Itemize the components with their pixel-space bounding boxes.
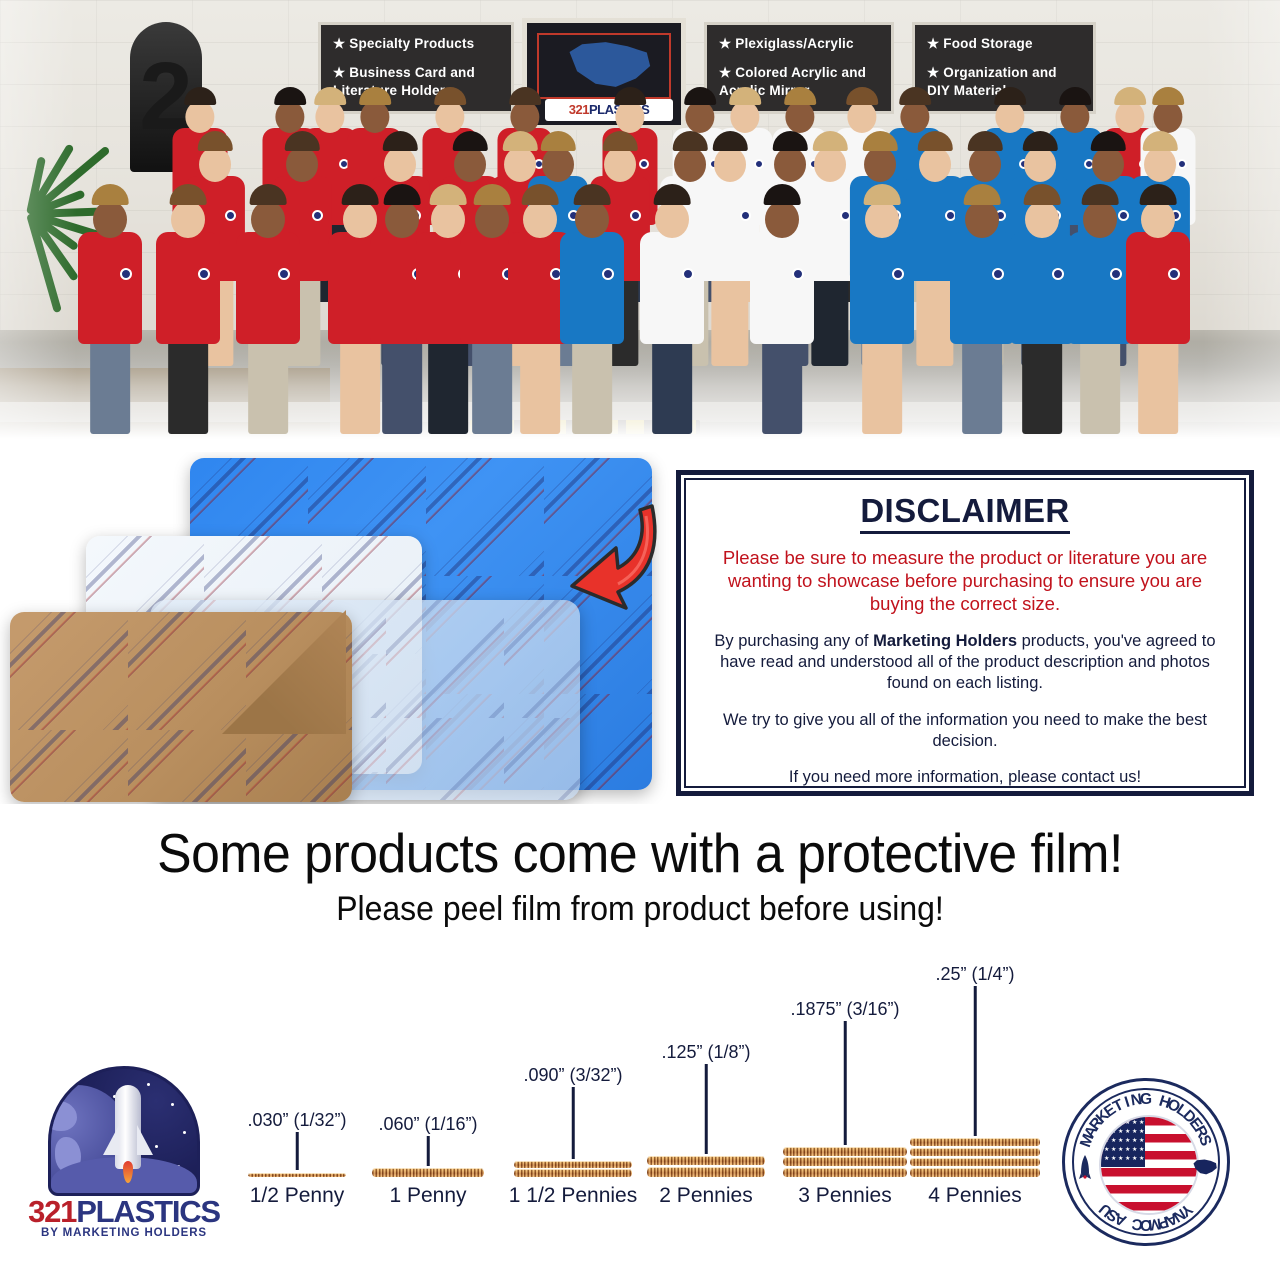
penny-measurement-label: .25” (1/4”) [935,964,1014,985]
staff-member [1068,192,1132,434]
penny-category-label: 3 Pennies [798,1184,891,1208]
staff-member [1126,192,1190,434]
disclaimer-warning-text: Please be sure to measure the product or… [704,546,1226,615]
staff-member [78,192,142,434]
penny-category-label: 1/2 Penny [250,1184,345,1208]
penny-leader-line [572,1087,575,1159]
penny-coin [248,1173,347,1177]
staff-member [850,192,914,434]
penny-stack [241,1173,353,1179]
staff-member [560,192,624,434]
headline-secondary: Please peel film from product before usi… [38,890,1241,929]
us-flag-icon: ★★★★★★★★★★★★★★★★★★★★★★★★★★★★★★ [1099,1115,1199,1215]
penny-coin [372,1168,484,1177]
penny-category-label: 4 Pennies [928,1184,1021,1208]
penny-stack [647,1156,765,1179]
penny-coin [910,1138,1040,1147]
penny-coin [647,1167,765,1177]
penny-measurement-label: .125” (1/8”) [661,1042,750,1063]
disclaimer-title: DISCLAIMER [860,492,1069,534]
penny-coin [783,1168,907,1177]
staff-member [950,192,1014,434]
staff-member [640,192,704,434]
marketing-infographic-page: 2 ★ Specialty Products ★ Business Card a… [0,0,1280,1280]
logo-dome [48,1066,200,1196]
wordmark-number: 321 [28,1194,76,1229]
penny-stack [514,1161,632,1179]
headline-block: Some products come with a protective fil… [0,824,1280,929]
321plastics-logo: 321PLASTICS BY MARKETING HOLDERS [26,1066,222,1244]
disclaimer-paragraph-2: We try to give you all of the informatio… [704,710,1226,752]
penny-category-label: 1 1/2 Pennies [509,1184,637,1208]
disclaimer-paragraph-3: If you need more information, please con… [704,767,1226,788]
penny-measurement-label: .1875” (3/16”) [790,999,899,1020]
penny-coin [647,1156,765,1166]
penny-category-label: 1 Penny [389,1184,466,1208]
staff-member [236,192,300,434]
team-photo: 2 ★ Specialty Products ★ Business Card a… [0,0,1280,452]
penny-leader-line [427,1136,430,1166]
penny-coin [910,1148,1040,1157]
penny-coin [514,1169,632,1176]
brand-name: Marketing Holders [873,632,1017,650]
penny-stack [910,1138,1040,1179]
headline-primary: Some products come with a protective fil… [38,824,1241,882]
staff-member [1010,192,1074,434]
logo-tagline: BY MARKETING HOLDERS [26,1227,222,1239]
penny-stack [372,1168,484,1179]
red-arrow-icon [556,500,666,620]
penny-coin [910,1168,1040,1177]
penny-coin [783,1147,907,1156]
disclaimer-paragraph-1: By purchasing any of Marketing Holders p… [704,631,1226,693]
disclaimer-box: DISCLAIMER Please be sure to measure the… [676,470,1254,796]
penny-measurement-label: .030” (1/32”) [247,1110,346,1131]
penny-stack [783,1147,907,1179]
penny-coin [514,1161,632,1168]
penny-coin [910,1158,1040,1167]
penny-category-label: 2 Pennies [659,1184,752,1208]
para1-pre: By purchasing any of [714,632,873,650]
penny-leader-line [296,1132,299,1170]
rocket-silhouette-icon [1079,1155,1091,1183]
penny-leader-line [705,1064,708,1154]
penny-leader-line [844,1021,847,1145]
penny-measurement-label: .090” (3/32”) [523,1065,622,1086]
marketing-holders-usa-badge: MARKETING HOLDERS USA COMPANY ★★★★★★★★★★… [1062,1078,1230,1246]
penny-leader-line [974,986,977,1136]
staff-member [750,192,814,434]
logo-wordmark: 321PLASTICS [26,1194,222,1230]
penny-coin [783,1157,907,1166]
staff-member [156,192,220,434]
wordmark-text: PLASTICS [76,1194,220,1229]
penny-measurement-label: .060” (1/16”) [378,1114,477,1135]
